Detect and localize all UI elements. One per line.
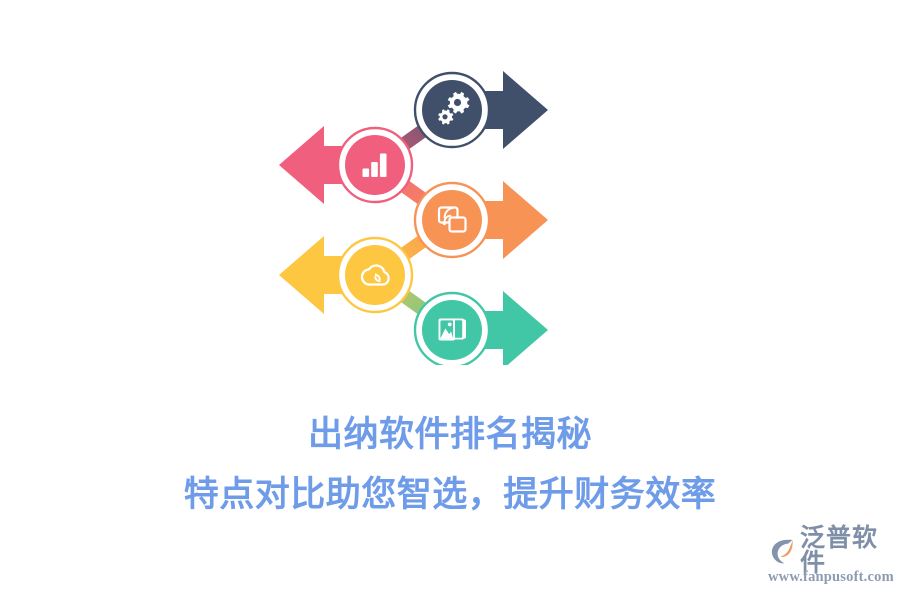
process-arrows-infographic bbox=[255, 55, 565, 365]
caption-line-1: 出纳软件排名揭秘 bbox=[0, 412, 900, 458]
caption-line-2: 特点对比助您智选，提升财务效率 bbox=[0, 472, 900, 518]
node-bar-chart[interactable] bbox=[338, 128, 412, 202]
caption-block: 出纳软件排名揭秘 特点对比助您智选，提升财务效率 bbox=[0, 412, 900, 517]
node-cloud-sync[interactable] bbox=[338, 238, 412, 312]
page-canvas: 出纳软件排名揭秘 特点对比助您智选，提升财务效率 泛普软件 www.fanpus… bbox=[0, 0, 900, 600]
brand-watermark[interactable]: 泛普软件 www.fanpusoft.com bbox=[768, 534, 892, 590]
node-photo-gallery[interactable] bbox=[415, 293, 489, 365]
photo-gallery-icon bbox=[439, 319, 467, 341]
fanpu-c-mark-icon bbox=[768, 536, 798, 566]
brand-logo-row: 泛普软件 bbox=[768, 534, 892, 568]
brand-url: www.fanpusoft.com bbox=[768, 569, 892, 586]
node-screen-cast[interactable] bbox=[415, 183, 489, 257]
node-gears[interactable] bbox=[415, 73, 489, 147]
